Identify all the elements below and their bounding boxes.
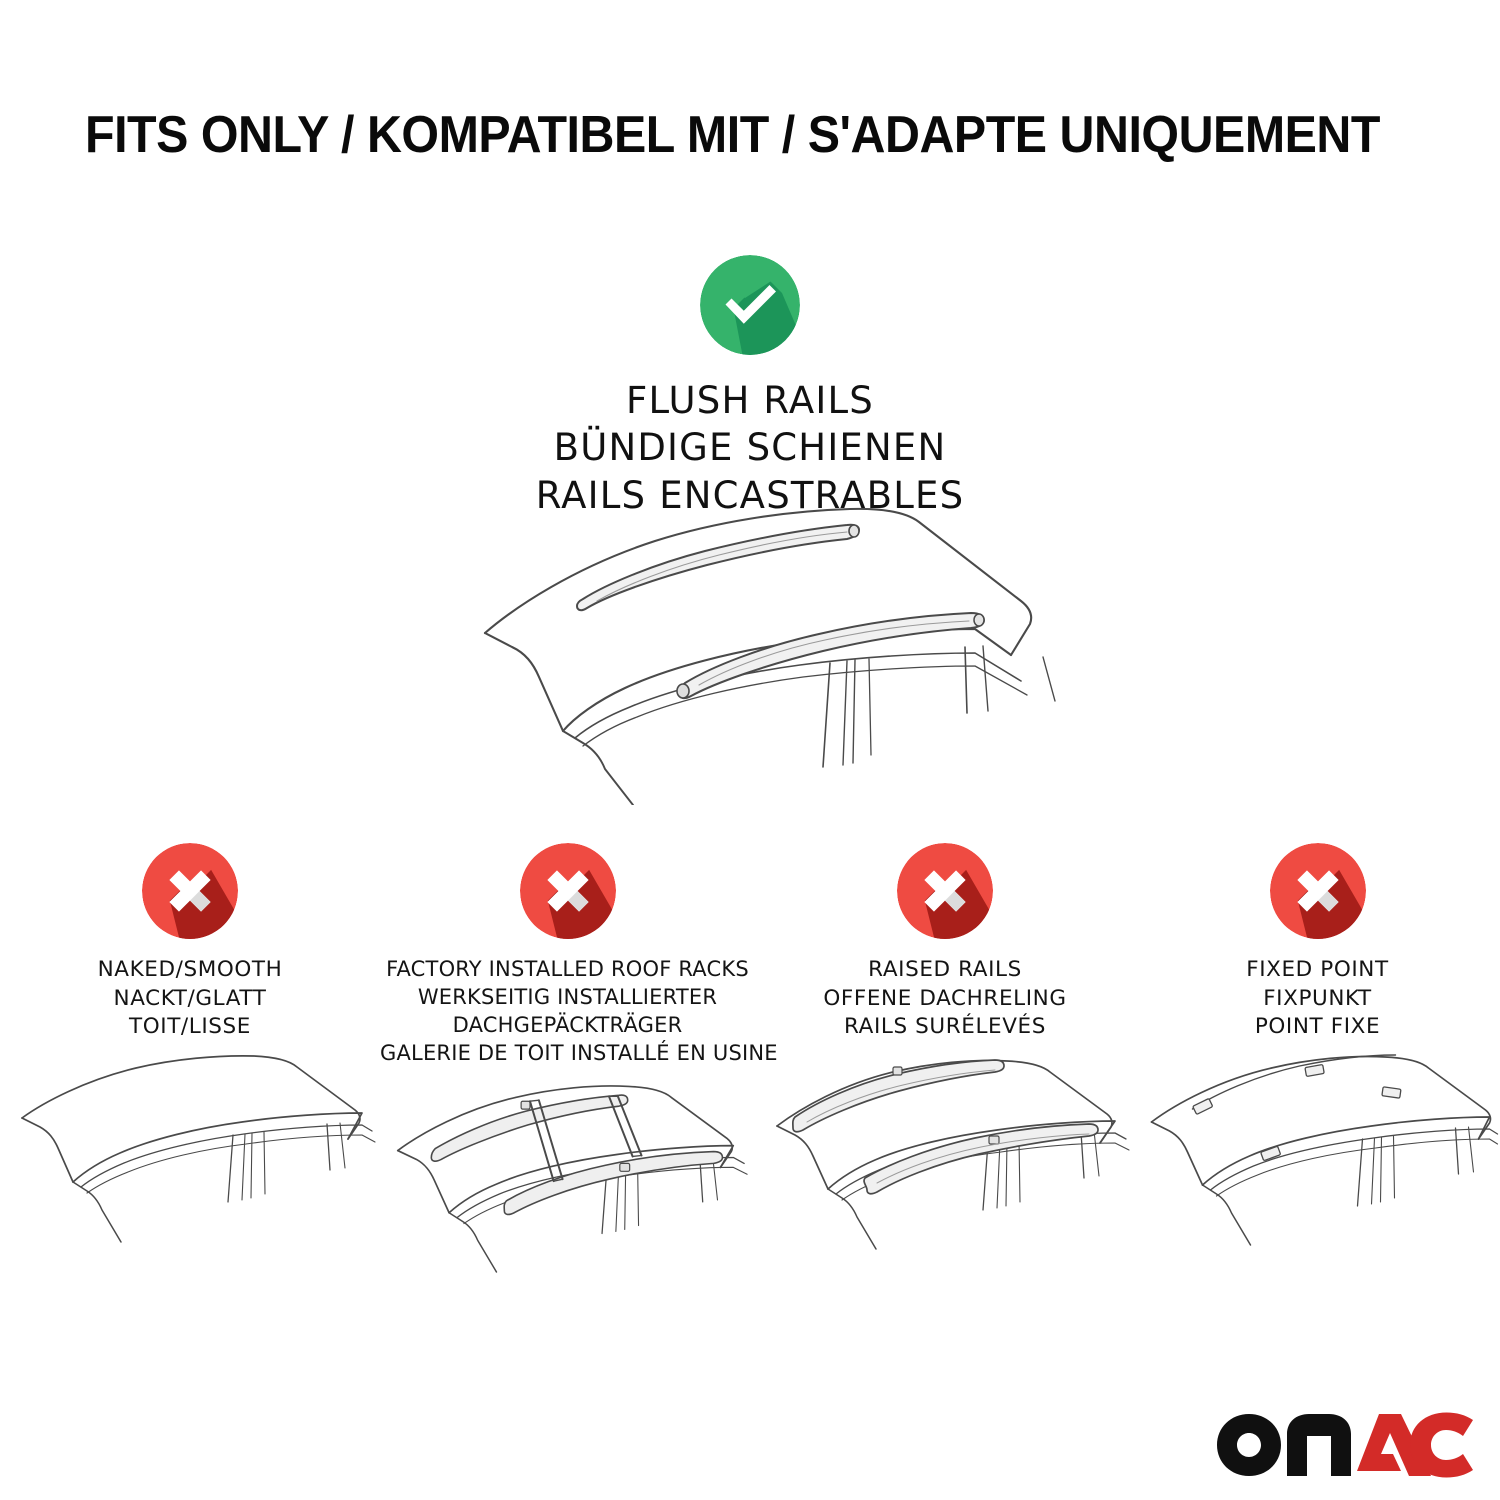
label-line-de: FIXPUNKT — [1135, 985, 1500, 1014]
label-line-en: NAKED/SMOOTH — [0, 956, 380, 985]
omac-logo — [1215, 1410, 1475, 1480]
compatible-section: FLUSH RAILS BÜNDIGE SCHIENEN RAILS ENCAS… — [0, 255, 1500, 519]
compatible-line-de: BÜNDIGE SCHIENEN — [0, 424, 1500, 471]
label-line-en: FACTORY INSTALLED ROOF RACKS — [380, 956, 755, 984]
incompatible-label: NAKED/SMOOTH NACKT/GLATT TOIT/LISSE — [0, 956, 380, 1042]
incompatible-label: FIXED POINT FIXPUNKT POINT FIXE — [1135, 956, 1500, 1042]
incompatible-item-naked-smooth: NAKED/SMOOTH NACKT/GLATT TOIT/LISSE — [0, 843, 380, 1282]
incompatible-section: NAKED/SMOOTH NACKT/GLATT TOIT/LISSE — [0, 843, 1500, 1308]
fitment-infographic: FITS ONLY / KOMPATIBEL MIT / S'ADAPTE UN… — [0, 0, 1500, 1500]
logo-letter-m — [1287, 1414, 1351, 1476]
red-cross-circle-icon — [520, 843, 616, 939]
incompatible-item-raised-rails: RAISED RAILS OFFENE DACHRELING RAILS SUR… — [755, 843, 1135, 1282]
logo-letter-o — [1217, 1414, 1281, 1476]
label-line-de-1: WERKSEITIG INSTALLIERTER — [380, 984, 755, 1012]
incompatible-item-fixed-point: FIXED POINT FIXPUNKT POINT FIXE — [1135, 843, 1500, 1282]
red-cross-circle-icon — [142, 843, 238, 939]
label-line-fr: RAILS SURÉLEVÉS — [755, 1013, 1135, 1042]
label-line-en: RAISED RAILS — [755, 956, 1135, 985]
car-roof-with-flush-rails-illustration — [455, 495, 1075, 805]
car-roof-with-fixed-points-illustration — [1135, 1052, 1500, 1282]
green-check-circle-icon — [700, 255, 800, 355]
label-line-fr: TOIT/LISSE — [0, 1013, 380, 1042]
car-roof-bare-illustration — [0, 1052, 380, 1282]
label-line-en: FIXED POINT — [1135, 956, 1500, 985]
car-roof-with-crossbars-illustration — [380, 1078, 755, 1308]
incompatible-label: RAISED RAILS OFFENE DACHRELING RAILS SUR… — [755, 956, 1135, 1042]
label-line-fr: GALERIE DE TOIT INSTALLÉ EN USINE — [380, 1040, 755, 1068]
label-line-de: NACKT/GLATT — [0, 985, 380, 1014]
compatible-line-en: FLUSH RAILS — [0, 377, 1500, 424]
label-line-de: OFFENE DACHRELING — [755, 985, 1135, 1014]
red-cross-circle-icon — [1270, 843, 1366, 939]
red-cross-circle-icon — [897, 843, 993, 939]
label-line-de-2: DACHGEPÄCKTRÄGER — [380, 1012, 755, 1040]
label-line-fr: POINT FIXE — [1135, 1013, 1500, 1042]
page-title: FITS ONLY / KOMPATIBEL MIT / S'ADAPTE UN… — [85, 108, 1331, 163]
incompatible-item-factory-installed-roof-racks: FACTORY INSTALLED ROOF RACKS WERKSEITIG … — [380, 843, 755, 1308]
incompatible-label: FACTORY INSTALLED ROOF RACKS WERKSEITIG … — [380, 956, 755, 1068]
car-roof-with-raised-rails-illustration — [755, 1052, 1135, 1282]
